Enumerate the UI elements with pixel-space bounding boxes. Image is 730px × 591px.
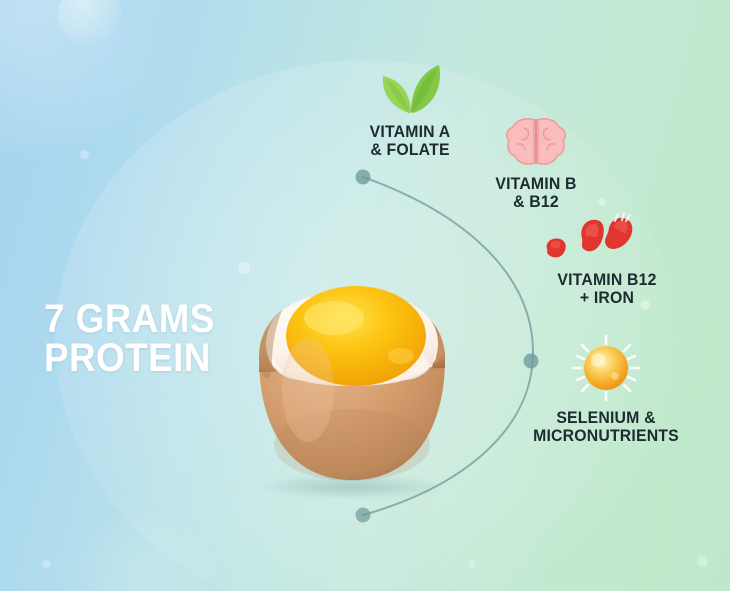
infographic-poster: 7 GRAMS PROTEIN: [0, 0, 730, 591]
blood-cells-icon: [571, 212, 643, 264]
egg-graphic: [236, 240, 468, 510]
eggshell-highlight: [282, 338, 334, 442]
leaf-icon: [375, 62, 445, 116]
nutrient-item-vitamin-b12-iron[interactable]: VITAMIN B12 + IRON: [512, 212, 702, 308]
nutrient-label: VITAMIN B12 + IRON: [519, 271, 696, 308]
nutrient-label: VITAMIN B & B12: [463, 175, 608, 212]
nutrient-item-vitamin-b[interactable]: VITAMIN B & B12: [458, 116, 614, 212]
yolk-highlight: [304, 301, 364, 335]
sun-icon: [567, 334, 645, 402]
brain-icon: [504, 116, 568, 168]
sun-disc: [584, 346, 628, 390]
page-title: 7 GRAMS PROTEIN: [44, 300, 215, 378]
sun-highlight: [611, 372, 619, 380]
cracked-egg-illustration: [236, 240, 468, 510]
blood-cell-small-icon: [542, 236, 576, 260]
egg-shadow: [264, 476, 440, 498]
yolk-highlight: [388, 348, 414, 364]
nutrient-item-selenium[interactable]: SELENIUM & MICRONUTRIENTS: [500, 334, 712, 446]
nutrient-label: SELENIUM & MICRONUTRIENTS: [507, 409, 704, 446]
arc-dot-top: [356, 170, 371, 185]
sun-highlight: [591, 353, 605, 367]
